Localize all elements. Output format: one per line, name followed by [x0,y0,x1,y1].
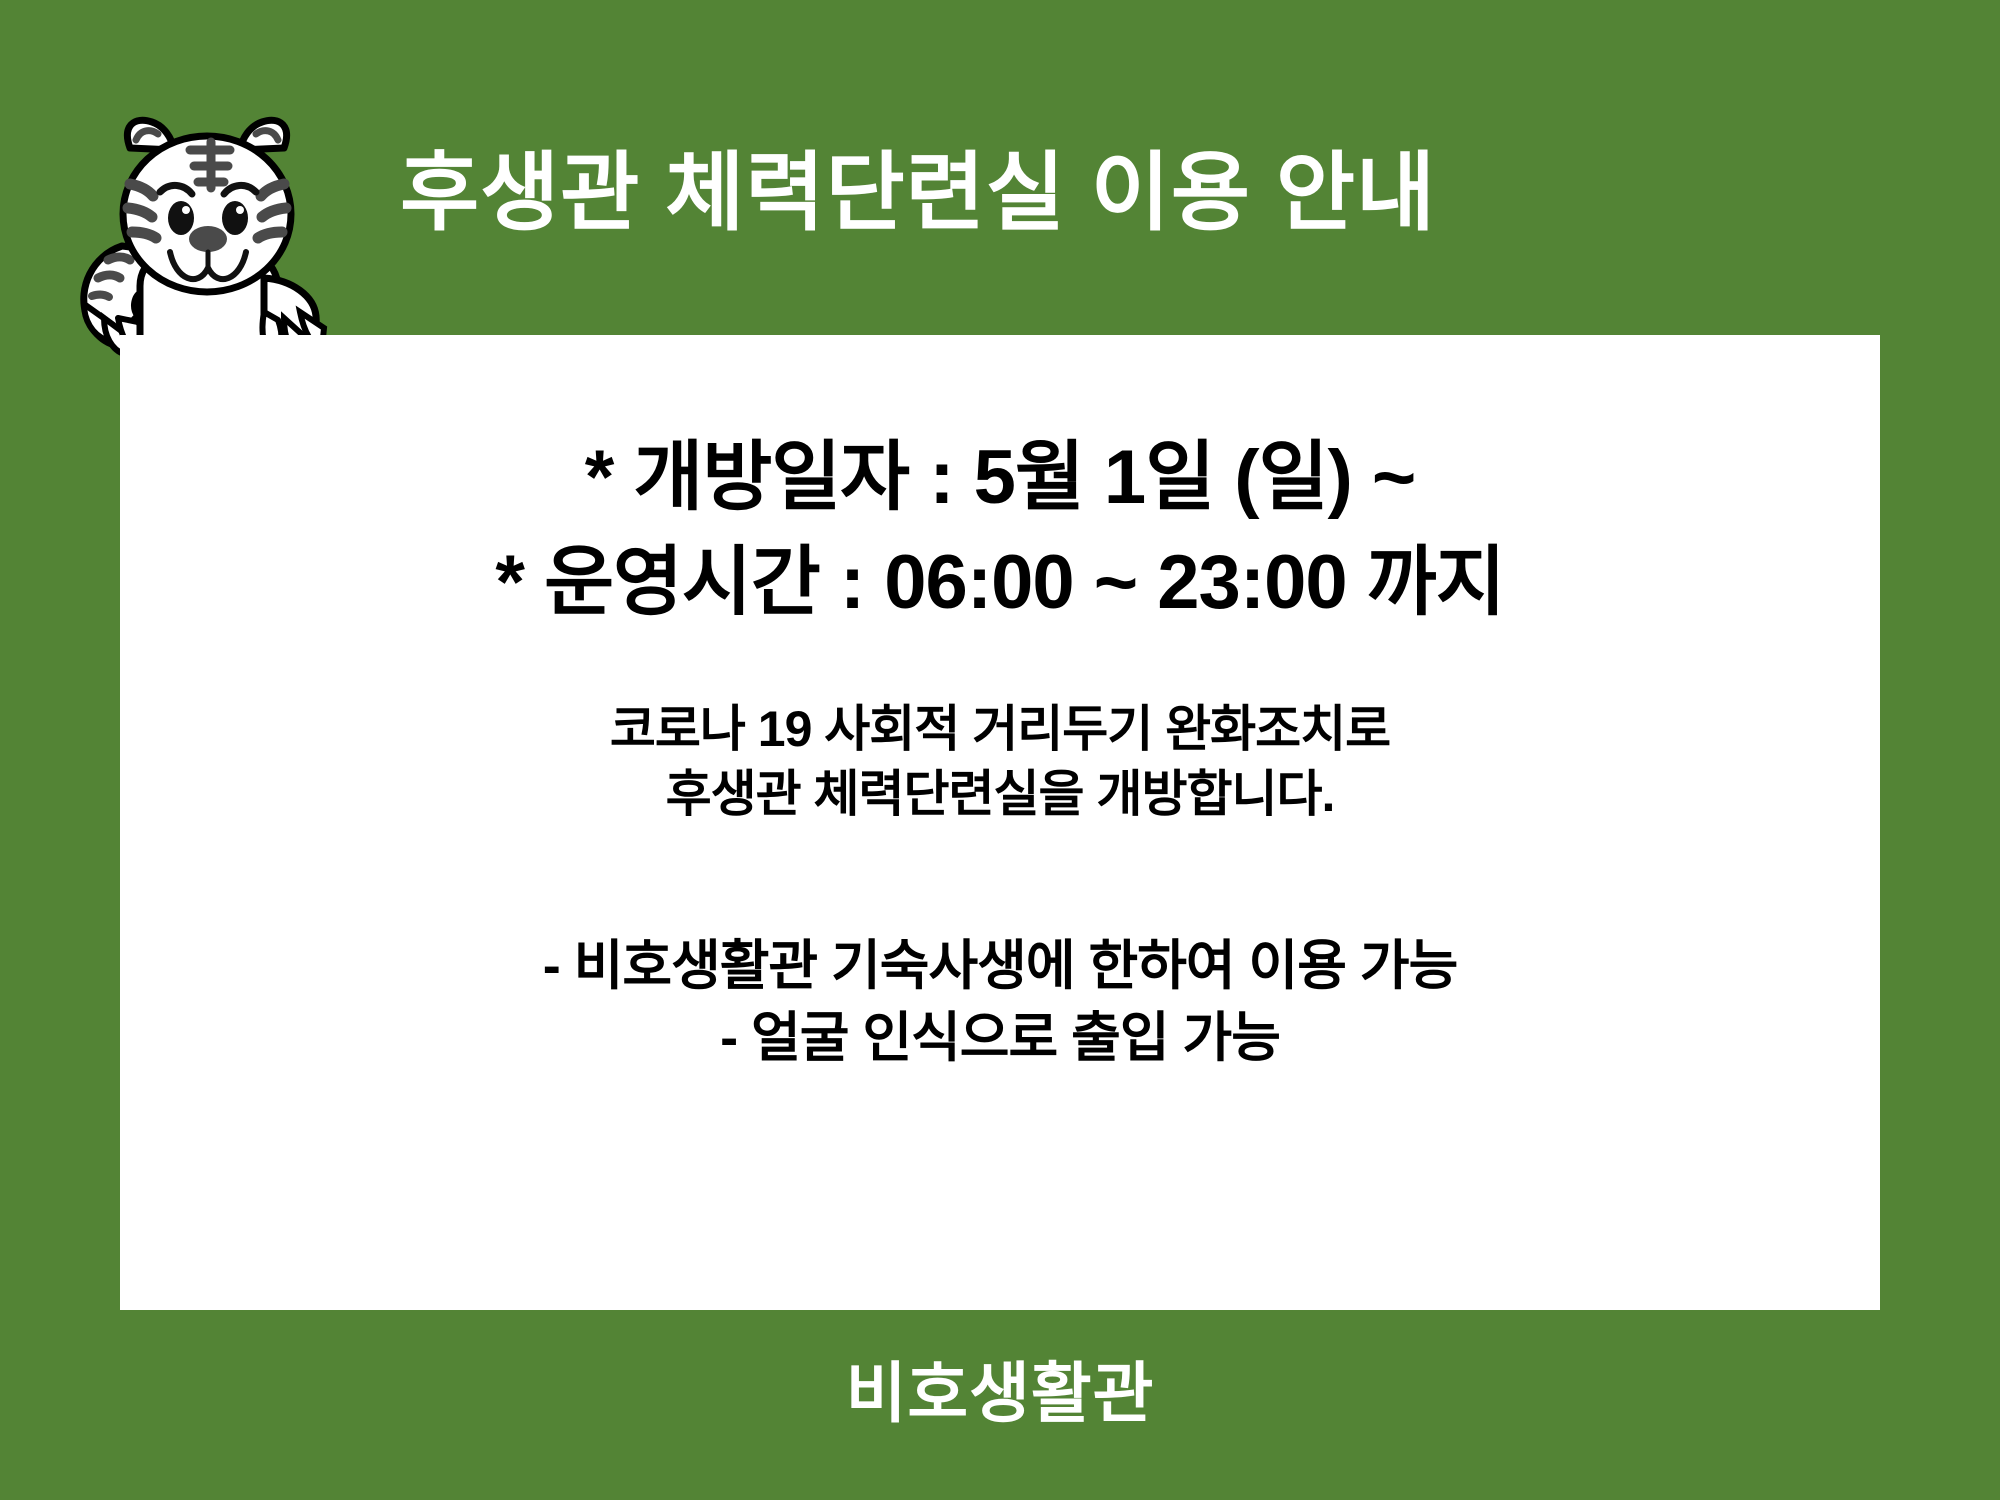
body-line-1: 코로나 19 사회적 거리두기 완화조치로 [120,700,1880,759]
page-title: 후생관 체력단련실 이용 안내 [400,148,1800,238]
footer-organization: 비호생활관 [0,1340,2000,1436]
notice-card: * 개방일자 : 5월 1일 (일) ~ * 운영시간 : 06:00 ~ 23… [120,335,1880,1310]
tiger-mascot-icon [78,96,338,364]
white-tiger-mascot [78,96,338,364]
bullet-face-recognition: - 얼굴 인식으로 출입 가능 [120,1007,1880,1071]
notice-poster: 후생관 체력단련실 이용 안내 * 개방일자 : 5월 1일 (일) ~ * 운… [0,0,2000,1500]
operating-hours-line: * 운영시간 : 06:00 ~ 23:00 까지 [120,540,1880,625]
bullet-eligibility: - 비호생활관 기숙사생에 한하여 이용 가능 [120,935,1880,999]
open-date-line: * 개방일자 : 5월 1일 (일) ~ [120,435,1880,520]
body-line-2: 후생관 체력단련실을 개방합니다. [120,765,1880,824]
